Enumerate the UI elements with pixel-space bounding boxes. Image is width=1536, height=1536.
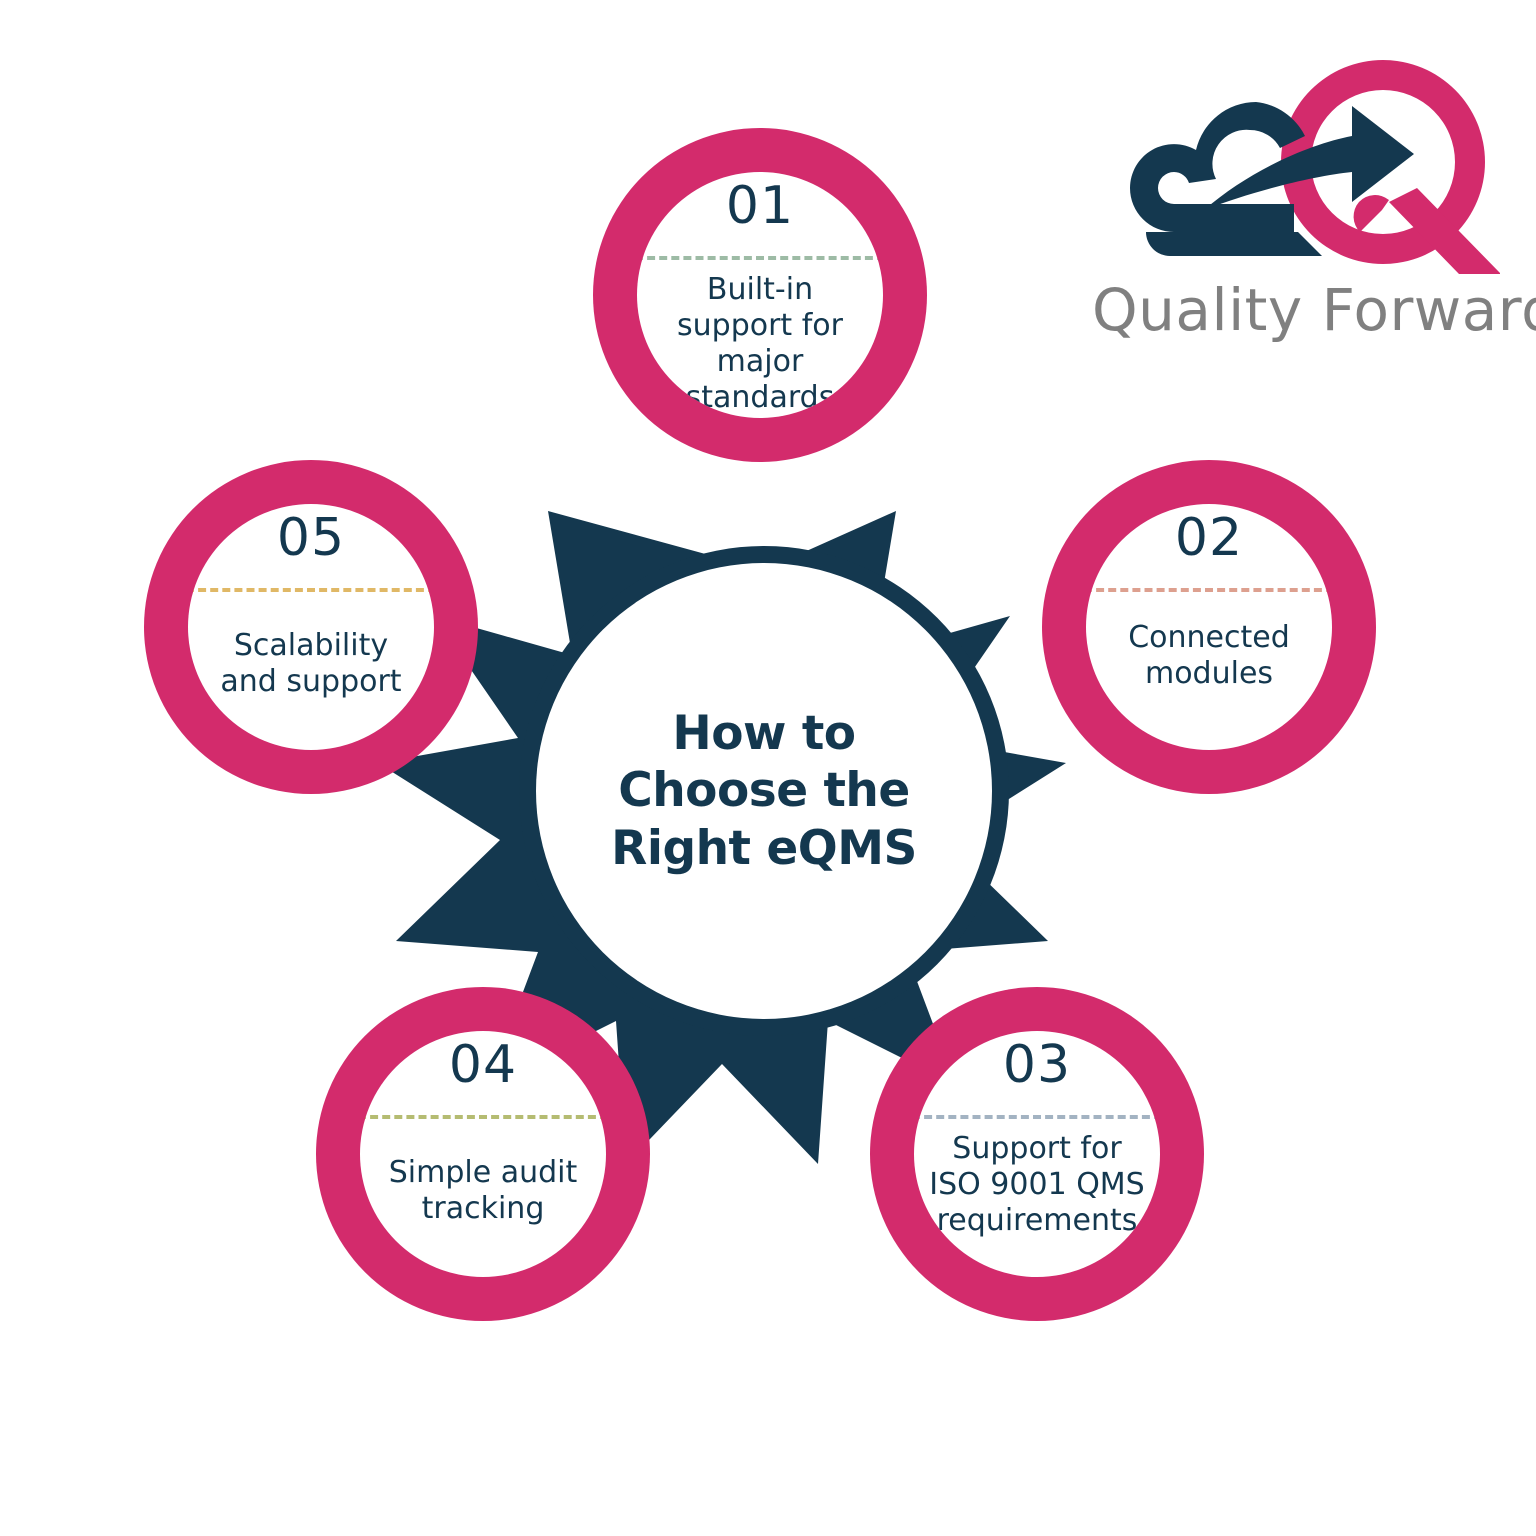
cycle-node-02[interactable]: 02 Connected modules [1042,460,1376,794]
node-number: 03 [914,1039,1160,1091]
node-number: 04 [360,1039,606,1091]
node-divider [188,588,434,592]
cycle-node-01[interactable]: 01 Built-in support for major standards [593,128,927,462]
infographic-canvas: Quality Forward How to Choose the Right … [0,0,1536,1536]
node-label: Connected modules [1100,620,1318,692]
node-divider [1086,588,1332,592]
node-divider [360,1115,606,1119]
node-content-02: 02 Connected modules [1086,504,1332,750]
center-hub: How to Choose the Right eQMS [536,563,992,1019]
node-content-04: 04 Simple audit tracking [360,1031,606,1277]
node-content-03: 03 Support for ISO 9001 QMS requirements [914,1031,1160,1277]
cycle-node-03[interactable]: 03 Support for ISO 9001 QMS requirements [870,987,1204,1321]
node-label: Scalability and support [202,628,420,700]
node-content-05: 05 Scalability and support [188,504,434,750]
node-number: 02 [1086,512,1332,564]
cycle-node-05[interactable]: 05 Scalability and support [144,460,478,794]
node-label: Built-in support for major standards [651,272,869,416]
cycle-diagram: How to Choose the Right eQMS 01 Built-in… [60,80,1460,1500]
node-divider [637,256,883,260]
node-divider [914,1115,1160,1119]
cycle-node-04[interactable]: 04 Simple audit tracking [316,987,650,1321]
node-number: 05 [188,512,434,564]
page-title: How to Choose the Right eQMS [574,705,954,877]
node-content-01: 01 Built-in support for major standards [637,172,883,418]
node-label: Support for ISO 9001 QMS requirements [928,1131,1146,1239]
node-label: Simple audit tracking [374,1155,592,1227]
node-number: 01 [637,180,883,232]
